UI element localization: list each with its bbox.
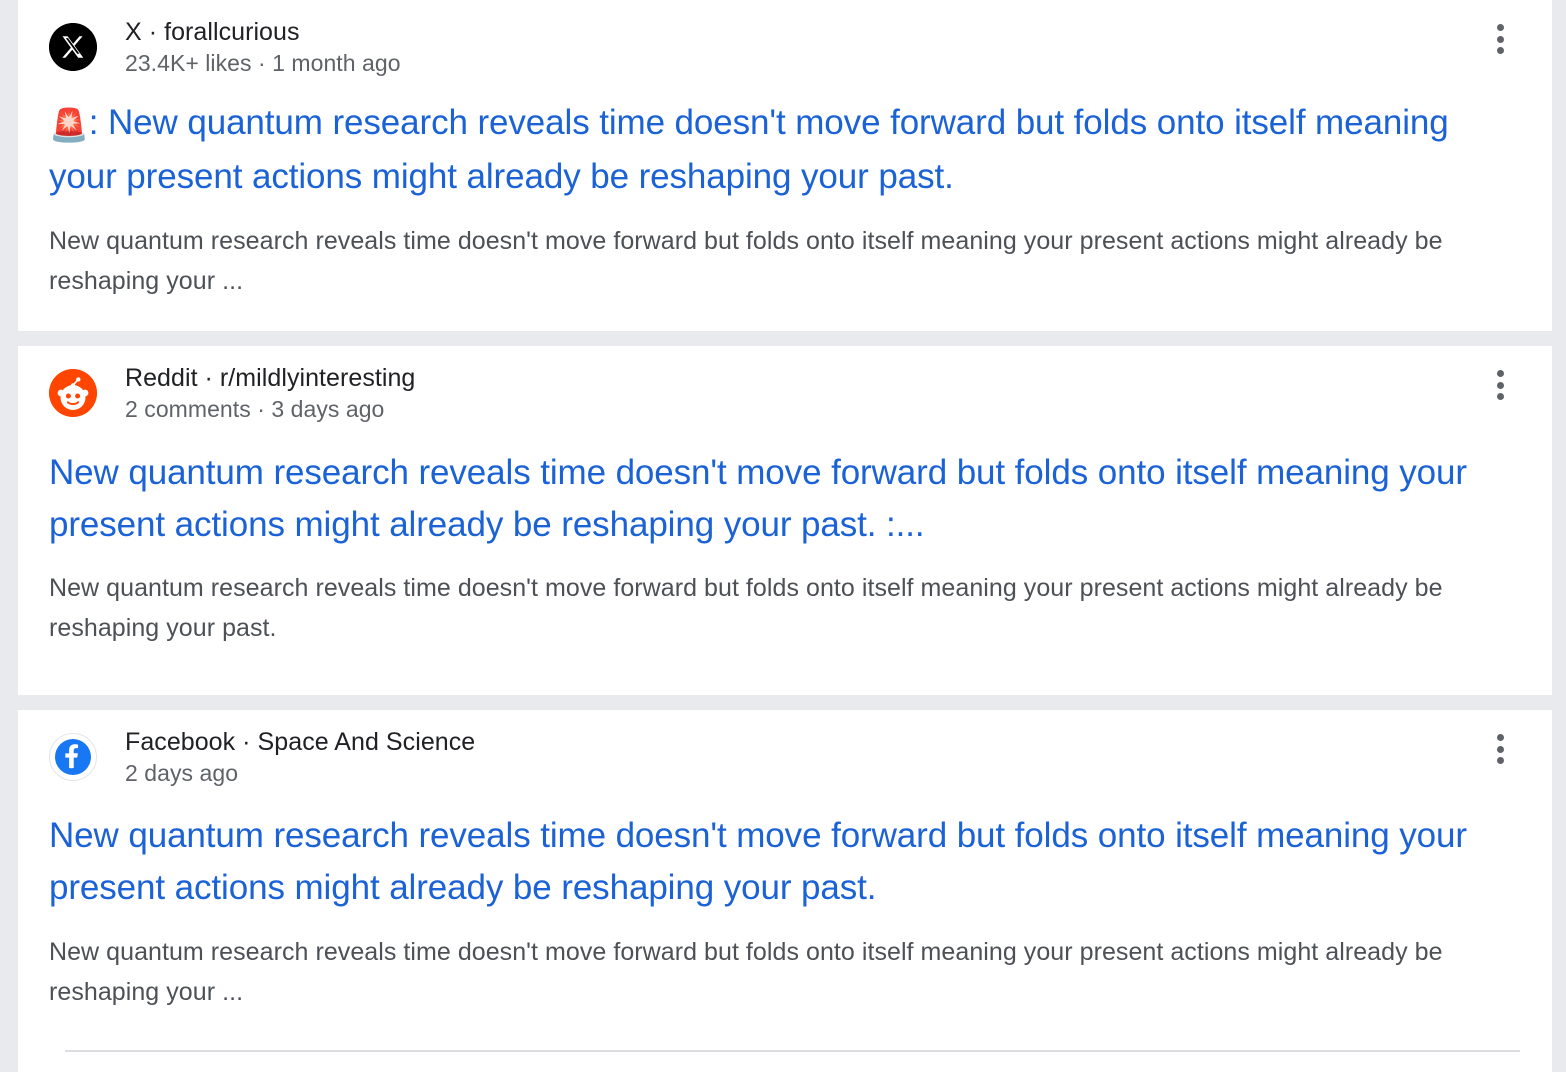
source-block: X · forallcurious 23.4K+ likes · 1 month… xyxy=(125,16,401,78)
result-card-x[interactable]: X · forallcurious 23.4K+ likes · 1 month… xyxy=(18,0,1552,331)
source-name: X · forallcurious xyxy=(125,16,401,48)
dot xyxy=(1497,746,1504,753)
dot xyxy=(1497,393,1504,400)
result-title-text: : New quantum research reveals time does… xyxy=(49,103,1449,196)
reddit-logo-icon xyxy=(49,369,97,417)
facebook-logo-icon xyxy=(49,733,97,781)
source-block: Facebook · Space And Science 2 days ago xyxy=(125,726,475,788)
x-logo-icon xyxy=(49,23,97,71)
result-snippet: New quantum research reveals time doesn'… xyxy=(18,568,1552,648)
result-title-text: New quantum research reveals time doesn'… xyxy=(49,816,1467,907)
result-card-facebook[interactable]: Facebook · Space And Science 2 days ago … xyxy=(18,710,1552,1072)
more-vertical-icon[interactable] xyxy=(1485,732,1515,766)
result-card-reddit[interactable]: Reddit · r/mildlyinteresting 2 comments … xyxy=(18,346,1552,695)
result-header: X · forallcurious 23.4K+ likes · 1 month… xyxy=(18,0,1552,78)
result-header: Reddit · r/mildlyinteresting 2 comments … xyxy=(18,346,1552,424)
result-snippet: New quantum research reveals time doesn'… xyxy=(18,221,1552,301)
section-divider xyxy=(65,1050,1520,1052)
source-meta: 23.4K+ likes · 1 month ago xyxy=(125,48,401,78)
dot xyxy=(1497,370,1504,377)
more-vertical-icon[interactable] xyxy=(1485,22,1515,56)
source-name: Facebook · Space And Science xyxy=(125,726,475,758)
dot xyxy=(1497,24,1504,31)
source-meta: 2 days ago xyxy=(125,758,475,788)
result-header: Facebook · Space And Science 2 days ago xyxy=(18,710,1552,788)
dot xyxy=(1497,36,1504,43)
result-title[interactable]: New quantum research reveals time doesn'… xyxy=(18,447,1552,551)
dot xyxy=(1497,382,1504,389)
dot xyxy=(1497,47,1504,54)
result-title-text: New quantum research reveals time doesn'… xyxy=(49,453,1467,544)
source-meta: 2 comments · 3 days ago xyxy=(125,394,415,424)
result-snippet: New quantum research reveals time doesn'… xyxy=(18,932,1552,1012)
police-car-light-emoji: 🚨 xyxy=(49,107,89,143)
more-vertical-icon[interactable] xyxy=(1485,368,1515,402)
dot xyxy=(1497,734,1504,741)
dot xyxy=(1497,757,1504,764)
source-block: Reddit · r/mildlyinteresting 2 comments … xyxy=(125,362,415,424)
result-title[interactable]: 🚨: New quantum research reveals time doe… xyxy=(18,97,1552,203)
result-title[interactable]: New quantum research reveals time doesn'… xyxy=(18,810,1552,914)
social-results-feed: X · forallcurious 23.4K+ likes · 1 month… xyxy=(0,0,1566,1072)
source-name: Reddit · r/mildlyinteresting xyxy=(125,362,415,394)
